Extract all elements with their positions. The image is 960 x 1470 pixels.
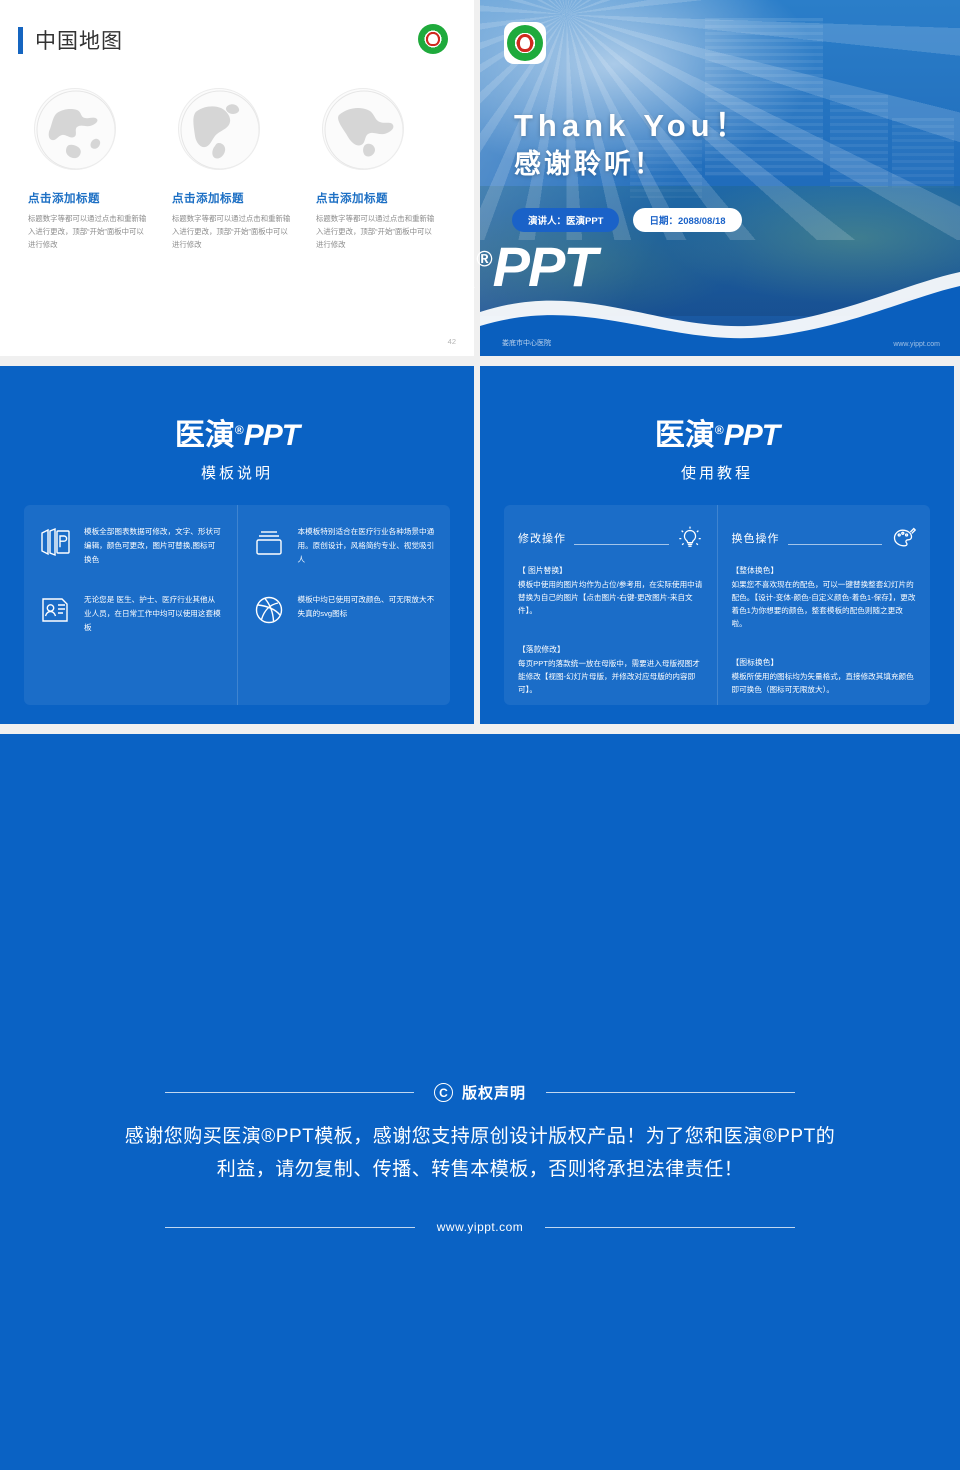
brand-ppt: PPT <box>724 419 779 452</box>
brand-registered-mark: ® <box>235 423 244 437</box>
tutorial-section-title: 修改操作 <box>518 530 566 546</box>
thank-you-heading-cn: 感谢聆听！ <box>514 142 664 181</box>
brand-cn: 医演 <box>175 419 235 452</box>
tutorial-block: 【整体换色】 如果您不喜欢现在的配色，可以一键替换整套幻灯片的配色。【设计-变体… <box>732 565 917 631</box>
spacer <box>732 631 917 643</box>
tutorial-block-heading: 【 图片替换】 <box>518 565 703 576</box>
globe-icon <box>322 88 404 170</box>
brand-logo: 医演®PPT <box>175 410 299 454</box>
slides-ppt-icon <box>38 525 72 559</box>
globe-icon <box>178 88 260 170</box>
title-accent-bar <box>18 27 23 54</box>
copyright-icon: C <box>434 1083 453 1102</box>
slide-template-info: 医演®PPT 模板说明 模板全部图表数据可 <box>0 366 474 724</box>
tutorial-block-text: 如果您不喜欢现在的配色，可以一键替换整套幻灯片的配色。【设计-变体-颜色-自定义… <box>732 579 917 631</box>
tutorial-block-heading: 【整体换色】 <box>732 565 917 576</box>
divider-line <box>545 1227 795 1228</box>
tutorial-block: 【落款修改】 每页PPT的落款统一放在母版中，需要进入母版视图才能修改【视图-幻… <box>518 644 703 697</box>
feature-item: 模板全部图表数据可修改，文字、形状可编辑，颜色可更改，图片可替换,图标可换色 <box>38 525 223 567</box>
page-number: 42 <box>448 337 456 346</box>
dribbble-icon <box>252 593 286 627</box>
slide-subtitle: 使用教程 <box>480 462 954 483</box>
tutorial-block-heading: 【落款修改】 <box>518 644 703 655</box>
tutorial-card: 修改操作 【 图片替换】 模板中使用的图片均作为占位/参考用，在实际 <box>504 505 930 705</box>
feature-item: 无论您是 医生、护士、医疗行业其他从业人员，在日常工作中均可以使用这套模板 <box>38 593 223 635</box>
brand-block: 医演®PPT 模板说明 <box>0 366 474 483</box>
divider-label-group: C 版权声明 <box>414 1082 546 1103</box>
column-title: 点击添加标题 <box>316 190 452 206</box>
copyright-brand-logo: 医演®PPT <box>0 222 960 303</box>
tutorial-section-header: 换色操作 <box>732 525 917 551</box>
tutorial-section-title: 换色操作 <box>732 530 780 546</box>
header-rule <box>788 544 883 545</box>
footer-organization: 娄底市中心医院 <box>502 338 551 348</box>
slide-subtitle: 模板说明 <box>0 462 474 483</box>
thank-you-heading-en: Thank You！ <box>514 100 751 145</box>
feature-column-right: 本模板特别适合在医疗行业各种场景中通用。原创设计，风格简约专业、视觉吸引人 模板… <box>237 505 451 705</box>
tutorial-block-text: 模板所使用的图标均为矢量格式，直接修改其填充颜色即可换色（图标可无限放大）。 <box>732 671 917 697</box>
copyright-footer: www.yippt.com <box>165 1220 795 1234</box>
tutorial-block-heading: 【图标换色】 <box>732 657 917 668</box>
brand-ppt: PPT <box>493 235 596 298</box>
feature-item: 模板中均已使用可改颜色、可无限放大不失真的svg图标 <box>252 593 437 627</box>
feature-text: 模板中均已使用可改颜色、可无限放大不失真的svg图标 <box>298 593 437 621</box>
slide-row-2: 医演®PPT 模板说明 模板全部图表数据可 <box>0 366 960 728</box>
brand-logo: 医演®PPT <box>655 410 779 454</box>
tutorial-block: 【 图片替换】 模板中使用的图片均作为占位/参考用，在实际使用中请替换为自己的图… <box>518 565 703 618</box>
feature-item: 本模板特别适合在医疗行业各种场景中通用。原创设计，风格简约专业、视觉吸引人 <box>252 525 437 567</box>
lightbulb-icon <box>677 525 703 551</box>
id-card-icon <box>38 593 72 627</box>
brand-cn: 医演 <box>655 419 715 452</box>
brand-registered-mark: ® <box>715 423 724 437</box>
tutorial-block: 【图标换色】 模板所使用的图标均为矢量格式，直接修改其填充颜色即可换色（图标可无… <box>732 657 917 697</box>
website-url: www.yippt.com <box>415 1220 546 1234</box>
brand-registered-mark: ® <box>476 246 492 271</box>
copyright-divider: C 版权声明 <box>165 1082 795 1103</box>
feature-text: 模板全部图表数据可修改，文字、形状可编辑，颜色可更改，图片可替换,图标可换色 <box>84 525 223 567</box>
header-rule <box>574 544 669 545</box>
page-title: 中国地图 <box>35 25 123 55</box>
brand-block: 医演®PPT 使用教程 <box>480 366 954 483</box>
tutorial-block-text: 每页PPT的落款统一放在母版中，需要进入母版视图才能修改【视图-幻灯片母版，并修… <box>518 658 703 697</box>
tutorial-section-edit: 修改操作 【 图片替换】 模板中使用的图片均作为占位/参考用，在实际 <box>504 505 717 705</box>
footer-url: www.yippt.com <box>893 341 940 348</box>
tutorial-block-text: 模板中使用的图片均作为占位/参考用，在实际使用中请替换为自己的图片【点击图片-右… <box>518 579 703 618</box>
feature-text: 本模板特别适合在医疗行业各种场景中通用。原创设计，风格简约专业、视觉吸引人 <box>298 525 437 567</box>
box-stack-icon <box>252 525 286 559</box>
spacer <box>518 618 703 630</box>
tutorial-section-header: 修改操作 <box>518 525 703 551</box>
feature-column-left: 模板全部图表数据可修改，文字、形状可编辑，颜色可更改，图片可替换,图标可换色 无… <box>24 505 237 705</box>
hospital-emblem-icon <box>504 22 546 64</box>
divider-line <box>165 1227 415 1228</box>
column-title: 点击添加标题 <box>172 190 308 206</box>
slide-deck-page: 中国地图 <box>0 0 960 1470</box>
feature-text: 无论您是 医生、护士、医疗行业其他从业人员，在日常工作中均可以使用这套模板 <box>84 593 223 635</box>
slide-row-1: 中国地图 <box>0 0 960 360</box>
copyright-body-text: 感谢您购买医演®PPT模板，感谢您支持原创设计版权产品！为了您和医演®PPT的利… <box>120 1120 840 1187</box>
divider-line <box>546 1092 795 1093</box>
brand-ppt: PPT <box>244 419 299 452</box>
feature-card: 模板全部图表数据可修改，文字、形状可编辑，颜色可更改，图片可替换,图标可换色 无… <box>24 505 450 705</box>
slide-tutorial: 医演®PPT 使用教程 修改操作 <box>480 366 954 724</box>
hospital-emblem-icon <box>418 24 448 54</box>
tutorial-section-recolor: 换色操作 【整体换色】 如果您不喜欢现在的配色，可以一键替换整套幻灯 <box>717 505 931 705</box>
palette-icon <box>890 525 916 551</box>
globe-icon <box>34 88 116 170</box>
divider-line <box>165 1092 414 1093</box>
column-title: 点击添加标题 <box>28 190 164 206</box>
brand-cn: 医演 <box>364 235 476 298</box>
divider-label: 版权声明 <box>462 1082 526 1103</box>
slide-title-bar: 中国地图 <box>18 25 123 55</box>
